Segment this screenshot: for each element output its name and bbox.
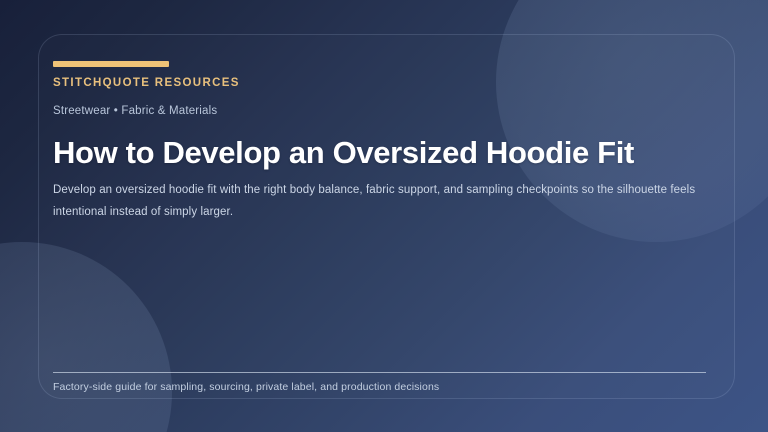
page-title: How to Develop an Oversized Hoodie Fit bbox=[53, 135, 634, 172]
footer-divider bbox=[53, 372, 706, 373]
hero-card: STITCHQUOTE RESOURCES Streetwear • Fabri… bbox=[38, 34, 735, 399]
accent-bar bbox=[53, 61, 169, 67]
breadcrumb: Streetwear • Fabric & Materials bbox=[53, 105, 217, 117]
eyebrow-label: STITCHQUOTE RESOURCES bbox=[53, 77, 240, 89]
subtitle-text: Develop an oversized hoodie fit with the… bbox=[53, 179, 705, 223]
footer-note: Factory-side guide for sampling, sourcin… bbox=[53, 381, 439, 393]
hero-card-content: STITCHQUOTE RESOURCES Streetwear • Fabri… bbox=[53, 35, 720, 398]
slide-canvas: STITCHQUOTE RESOURCES Streetwear • Fabri… bbox=[0, 0, 768, 432]
